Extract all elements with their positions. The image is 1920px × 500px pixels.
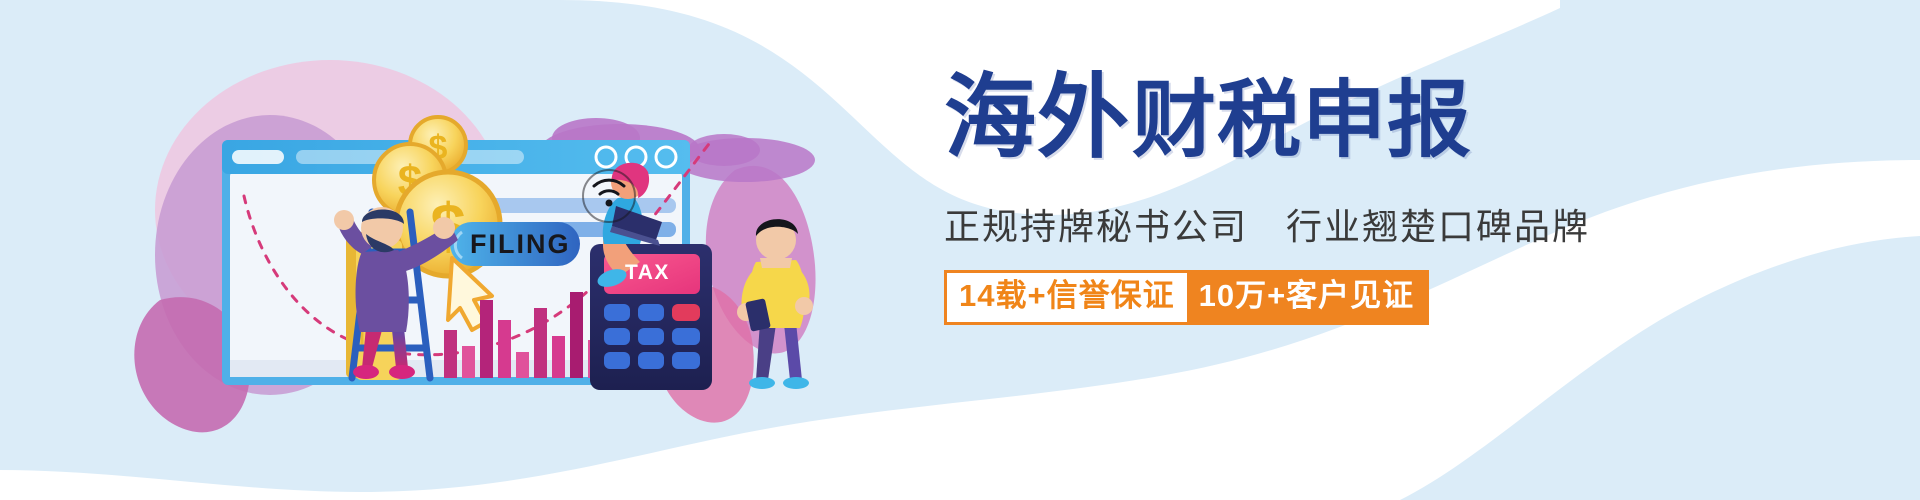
subtitle: 正规持牌秘书公司 行业翘楚口碑品牌	[944, 198, 1724, 250]
badge-customers: 10万+客户见证	[1187, 270, 1430, 325]
headline-part-2: 财税申报	[1132, 78, 1472, 162]
headline: 海外财税申报	[944, 72, 1724, 180]
badge-years: 14载+信誉保证	[944, 270, 1187, 325]
badge-row: 14载+信誉保证 10万+客户见证	[944, 270, 1724, 325]
copy-block: 海外财税申报 正规持牌秘书公司 行业翘楚口碑品牌 14载+信誉保证 10万+客户…	[944, 72, 1724, 372]
illustration-svg: $ $ $	[0, 0, 900, 500]
calculator-display-label: TAX	[625, 261, 670, 285]
filing-button-label: FILING	[470, 229, 571, 260]
illustration: $ $ $	[0, 0, 900, 500]
promo-banner: $ $ $	[0, 0, 1920, 500]
headline-part-1: 海外	[944, 72, 1130, 164]
